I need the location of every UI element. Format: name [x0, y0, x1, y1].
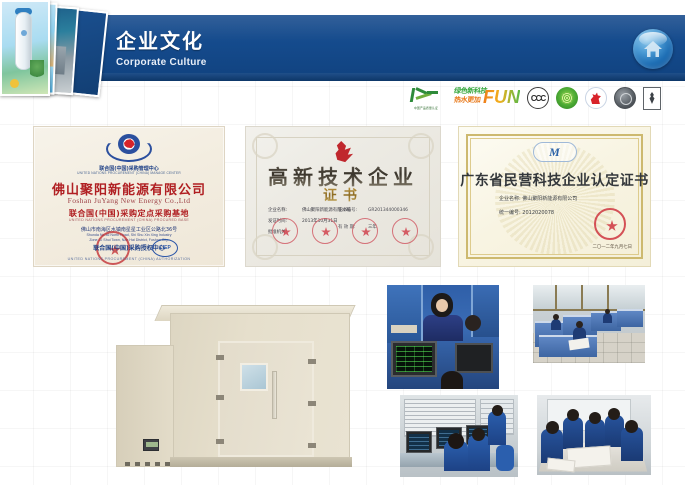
lab-monitor-secondary	[455, 343, 493, 373]
cert2-ornament-tl	[252, 133, 278, 159]
chamber-latch	[308, 359, 316, 364]
home-icon	[643, 39, 663, 59]
chamber-hinge	[216, 395, 224, 400]
cert1-footer-en: UNITED NATIONS PROCUREMENT (CHINA) AUTHO…	[34, 257, 224, 261]
green-k-mark-icon	[411, 87, 439, 103]
lab-person-body	[423, 315, 463, 341]
cert3-field-company: 企业名称: 佛山聚阳新能源有限公司	[499, 195, 577, 202]
green-product-icon	[556, 87, 578, 109]
chamber-latch	[308, 401, 316, 406]
cert3-field-number: 统一编号: 2012020078	[499, 209, 554, 216]
meeting-member-head	[546, 421, 559, 434]
office-worker-head	[553, 314, 559, 320]
chamber-panel-display	[146, 442, 158, 447]
chamber-door-handle	[272, 371, 277, 419]
meeting-member-head	[567, 409, 579, 421]
collage-flower	[10, 79, 19, 88]
cert-badge-ccc: CCC	[527, 87, 549, 109]
collage-card-1	[0, 0, 50, 96]
cert1-award-en: UNITED NATIONS PROCUREMENT (CHINA) PROCU…	[34, 218, 224, 222]
corporate-culture-page: 企业文化 Corporate Culture	[0, 0, 685, 485]
meeting-member-head	[589, 412, 601, 424]
chamber-viewport-window	[240, 363, 268, 391]
photo-design-meeting	[537, 395, 651, 475]
certificate-un-procurement[interactable]: 联合国(中国)采购管理中心 UNITED NATIONS PROCUREMENT…	[33, 126, 225, 267]
cert2-field-label-0: 企业名称:	[268, 205, 302, 216]
cert2-stamp	[272, 218, 298, 244]
meeting-member-head	[608, 408, 620, 420]
lab-person3-head	[441, 371, 463, 389]
page-header-banner: 企业文化 Corporate Culture	[58, 15, 685, 81]
cert-label-china-env: 中国产品质量认证	[405, 106, 447, 110]
quality-mark-icon	[643, 87, 661, 110]
cert2-field-value-r0: GR201344000346	[368, 205, 408, 216]
photo-control-room	[400, 395, 518, 477]
cert-badge-green-product	[556, 87, 578, 109]
control-operator-second-head	[472, 428, 485, 441]
chamber-base-plinth	[170, 457, 352, 467]
iso-seal-icon	[614, 87, 636, 109]
lab-shelf	[391, 325, 417, 333]
certificate-guangdong-private-tech[interactable]: M 广东省民营科技企业认定证书 企业名称: 佛山聚阳新能源有限公司 统一编号: …	[458, 126, 651, 267]
cert1-address-cn: 佛山市南海区水镇南星星工业区公路北36号	[34, 226, 224, 233]
office-worker	[603, 313, 612, 323]
cert2-stamp	[312, 218, 338, 244]
cert3-logo: M	[533, 142, 577, 162]
office-window-wall	[533, 285, 645, 311]
cert-badge-iso	[614, 87, 636, 109]
certificates-row: 联合国(中国)采购管理中心 UNITED NATIONS PROCUREMENT…	[0, 126, 685, 271]
office-worker-head	[576, 321, 583, 328]
cert2-stamp	[392, 218, 418, 244]
chamber-control-cabinet	[116, 345, 174, 467]
cert2-stamp	[352, 218, 378, 244]
control-operator-head	[448, 433, 464, 449]
chamber-latch	[308, 443, 316, 448]
photo-test-chamber	[112, 285, 382, 485]
fun-wordmark: FUN	[483, 87, 520, 107]
control-supervisor	[488, 411, 506, 445]
cert1-company-en: Foshan JuYang New Energy Co.,Ltd	[34, 196, 224, 205]
un-emblem-icon	[106, 134, 152, 164]
lab-monitor-main	[391, 341, 437, 377]
meeting-member	[563, 417, 583, 449]
cert-badge-famous-brand	[585, 87, 607, 109]
cert1-footer-cn: 联合国(中国)采购授权中心	[34, 243, 224, 252]
cert-badge-quality-mark	[643, 87, 661, 110]
page-title-block: 企业文化 Corporate Culture	[116, 29, 207, 70]
office-worker	[551, 319, 561, 330]
chamber-door	[218, 341, 314, 457]
lab-person2-head	[465, 315, 481, 331]
cert2-field-label-r0: 证书编号:	[338, 205, 368, 216]
meeting-member-head	[625, 420, 638, 433]
chamber-vent-grille	[125, 462, 175, 466]
ccc-mark-icon: CCC	[527, 87, 549, 109]
ccc-letters: CCC	[531, 94, 545, 103]
cert2-subtitle: 证书	[246, 185, 440, 205]
office-partition	[617, 309, 643, 327]
product-photo-collage	[0, 0, 118, 103]
photo-open-office	[533, 285, 645, 363]
control-room-chair	[496, 445, 514, 471]
page-title: 企业文化	[116, 29, 207, 53]
cert3-date: 二〇一二年九月七日	[592, 244, 632, 250]
certificate-high-tech-enterprise[interactable]: 高新技术企业 证书 企业名称: 佛山聚阳新能源有限公司 发证时间: 2013年1…	[245, 126, 441, 267]
cert2-ornament-tr	[408, 133, 434, 159]
control-supervisor-head	[492, 405, 503, 416]
collage-plant	[30, 60, 44, 82]
office-window-mullion	[581, 285, 583, 311]
cert2-stamp-group	[272, 218, 418, 244]
cert-badge-fun-slogan: 绿色新科技 热水更加 FUN	[454, 87, 520, 109]
page-subtitle: Corporate Culture	[116, 56, 207, 70]
home-button[interactable]	[633, 29, 673, 69]
famous-brand-icon	[585, 87, 607, 109]
cert1-org-en: UNITED NATIONS PROCUREMENT (CHINA) MANAG…	[34, 171, 224, 175]
cert3-logo-text: M	[549, 145, 560, 160]
office-window-mullion	[607, 285, 609, 311]
control-monitor	[406, 431, 432, 453]
photo-lab-workstation	[387, 285, 499, 389]
chamber-hinge	[216, 355, 224, 360]
cert2-field-row-right: 证书编号: GR201344000346	[338, 205, 424, 216]
certification-badge-strip: 中国产品质量认证 绿色新科技 热水更加 FUN CCC	[405, 85, 685, 111]
office-worker-head	[605, 309, 610, 314]
chamber-hinge	[216, 439, 224, 444]
fun-slogan-line2: 热水更加	[453, 96, 481, 104]
cert3-red-stamp	[594, 208, 626, 240]
cert-badge-china-env-label: 中国产品质量认证	[405, 86, 447, 110]
collage-tank-gauge	[21, 30, 27, 36]
lab-person-face	[436, 299, 448, 312]
cert3-title: 广东省民营科技企业认定证书	[459, 170, 650, 190]
office-window-mullion	[555, 285, 557, 311]
chamber-control-panel	[143, 439, 159, 451]
lab-monitor-screen	[396, 346, 432, 372]
lab-cubicle-left	[387, 285, 423, 343]
